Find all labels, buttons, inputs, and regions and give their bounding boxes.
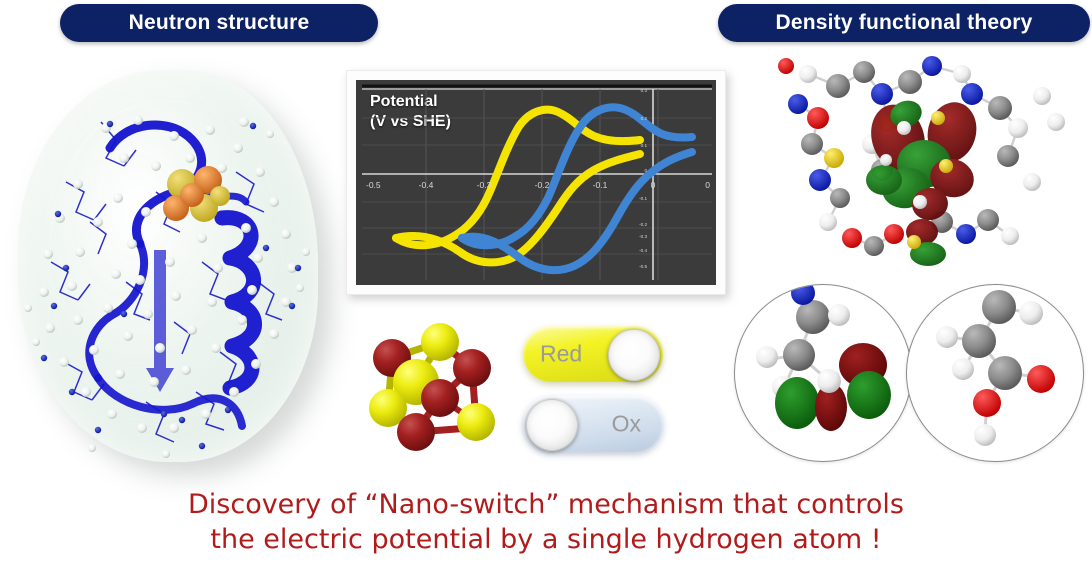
banner-left-label: Neutron structure bbox=[129, 11, 310, 35]
y-tick-label: -0.3 bbox=[639, 234, 647, 239]
cyclic-voltammogram-plot: Potential (V vs SHE) bbox=[356, 80, 716, 285]
protein-structure-figure bbox=[6, 62, 336, 472]
carboxylic-acid-model bbox=[907, 285, 1083, 461]
banner-density-functional-theory: Density functional theory bbox=[718, 4, 1090, 42]
x-tick-label: -0.4 bbox=[419, 180, 434, 190]
ox-state-toggle[interactable]: Ox bbox=[523, 396, 663, 452]
y-tick-label: 0.1 bbox=[641, 143, 648, 148]
x-tick-label: -0.1 bbox=[593, 180, 608, 190]
x-tick-label: 0 bbox=[705, 180, 710, 190]
dft-molecular-orbital-figure bbox=[756, 52, 1092, 290]
y-tick-label: -0.5 bbox=[639, 264, 647, 269]
protein-ribbon-diagram bbox=[6, 62, 336, 472]
voltammogram-traces: -0.5 -0.4 -0.3 -0.2 -0.1 0 0 0.3 0.2 0.1… bbox=[356, 80, 716, 285]
y-tick-label: -0.4 bbox=[639, 248, 647, 253]
carboxylate-orbital-model bbox=[735, 285, 911, 461]
inset-deprotonated-carboxylate bbox=[734, 284, 912, 462]
y-tick-label: 0.3 bbox=[641, 88, 648, 93]
cyclic-voltammogram-card: Potential (V vs SHE) bbox=[346, 70, 726, 295]
figure-canvas: Neutron structure Density functional the… bbox=[0, 0, 1092, 570]
iron-sulfur-cubane-cluster bbox=[352, 310, 512, 470]
x-tick-label: 0 bbox=[651, 180, 656, 190]
y-tick-label: -0.2 bbox=[639, 222, 647, 227]
ox-toggle-label: Ox bbox=[612, 411, 641, 438]
red-state-toggle[interactable]: Red bbox=[523, 326, 663, 382]
y-tick-label: 0.2 bbox=[641, 116, 648, 121]
y-tick-label: -0.1 bbox=[639, 196, 647, 201]
banner-right-label: Density functional theory bbox=[775, 11, 1032, 35]
inset-protonated-carboxylic-acid bbox=[906, 284, 1084, 462]
caption-line-2: the electric potential by a single hydro… bbox=[0, 523, 1092, 558]
x-tick-label: -0.2 bbox=[535, 180, 550, 190]
banner-neutron-structure: Neutron structure bbox=[60, 4, 378, 42]
caption-line-1: Discovery of “Nano-switch” mechanism tha… bbox=[188, 489, 904, 520]
x-tick-label: -0.3 bbox=[477, 180, 492, 190]
y-tick-label: 0 bbox=[644, 168, 647, 173]
x-tick-label: -0.5 bbox=[366, 180, 381, 190]
red-toggle-label: Red bbox=[540, 341, 582, 368]
red-toggle-knob[interactable] bbox=[608, 329, 660, 381]
ox-toggle-knob[interactable] bbox=[526, 399, 578, 451]
figure-caption: Discovery of “Nano-switch” mechanism tha… bbox=[0, 488, 1092, 557]
